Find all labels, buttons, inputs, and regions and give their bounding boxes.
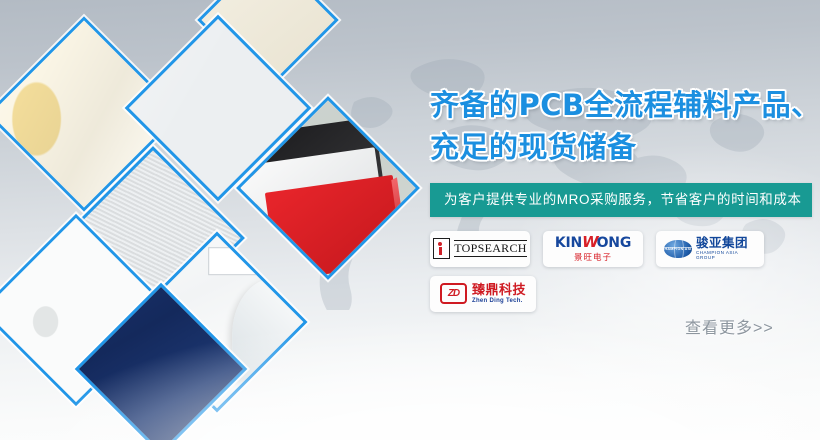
product-collage: JIE — [0, 0, 430, 440]
logo-zhen-ding-en: Zhen Ding Tech. — [472, 298, 526, 304]
film-tag — [208, 247, 258, 275]
logo-zhen-ding-cn: 臻鼎科技 — [472, 283, 526, 296]
headline: 齐备的PCB全流程辅料产品、 充足的现货储备 — [430, 84, 820, 169]
zhen-ding-square-mark-icon: ZD — [440, 283, 467, 304]
partner-logo-row-1: TOPSEARCH KIN W ONG 景旺电子 — [430, 231, 820, 267]
partner-logo-row-2: ZD 臻鼎科技 Zhen Ding Tech. — [430, 276, 820, 312]
logo-kinwong-en-right: ONG — [597, 236, 632, 250]
logo-topsearch-text: TOPSEARCH — [454, 240, 527, 257]
champion-asia-globe-icon: CHAMPION ASIA — [664, 240, 692, 258]
globe-text: CHAMPION ASIA — [664, 247, 692, 251]
logo-kinwong-cn: 景旺电子 — [555, 253, 631, 262]
partner-logos: TOPSEARCH KIN W ONG 景旺电子 — [430, 231, 820, 312]
headline-line-1: 齐备的PCB全流程辅料产品、 — [430, 84, 820, 126]
topsearch-square-mark-icon — [433, 238, 450, 259]
logo-kinwong-en: KIN W ONG — [555, 235, 631, 250]
film-peel-corner — [232, 278, 307, 379]
logo-kinwong-en-left: KIN — [555, 236, 582, 250]
headline-line-2: 充足的现货储备 — [430, 126, 820, 168]
logo-kinwong[interactable]: KIN W ONG 景旺电子 — [543, 231, 643, 267]
view-more-link[interactable]: 查看更多>> — [685, 314, 774, 338]
logo-zhen-ding[interactable]: ZD 臻鼎科技 Zhen Ding Tech. — [430, 276, 536, 312]
logo-champion-cn: 骏亚集团 — [696, 237, 756, 250]
sheet-red — [264, 175, 405, 280]
subtitle-bar: 为客户提供专业的MRO采购服务，节省客户的时间和成本 — [430, 183, 812, 217]
promo-banner: JIE 齐备的PCB全流程辅料产品、 充足的现货储备 为客户提供专业的MRO采购… — [0, 0, 820, 440]
kinwong-w-mark-icon: W — [582, 235, 597, 250]
logo-champion-asia[interactable]: CHAMPION ASIA 骏亚集团 CHAMPION ASIA GROUP — [656, 231, 764, 267]
logo-champion-en: CHAMPION ASIA GROUP — [696, 251, 756, 260]
banner-content: 齐备的PCB全流程辅料产品、 充足的现货储备 为客户提供专业的MRO采购服务，节… — [430, 84, 820, 312]
logo-topsearch[interactable]: TOPSEARCH — [430, 231, 530, 267]
